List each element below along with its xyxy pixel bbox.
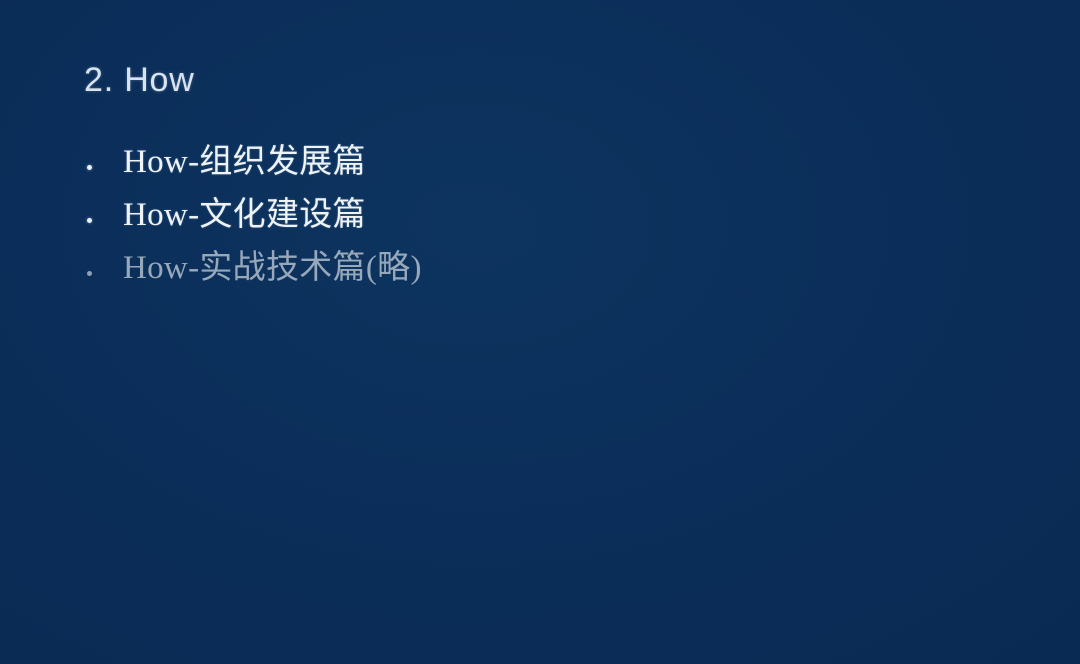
bullet-dot-icon xyxy=(84,171,123,172)
bullet-item-label: How-组织发展篇 xyxy=(123,136,366,189)
bullet-item-culture-building[interactable]: How-文化建设篇 xyxy=(84,189,964,242)
bullet-item-label: How-实战技术篇(略) xyxy=(123,242,422,295)
bullet-dot-icon xyxy=(84,224,123,225)
bullet-item-organization-development[interactable]: How-组织发展篇 xyxy=(84,136,964,189)
slide-canvas: 2. How How-组织发展篇 How-文化建设篇 How-实战技术篇(略) xyxy=(0,0,1080,664)
slide-title: 2. How xyxy=(84,58,195,102)
bullet-item-label: How-文化建设篇 xyxy=(123,189,366,242)
bullet-dot-icon xyxy=(84,277,123,278)
bullet-item-practical-techniques-omitted[interactable]: How-实战技术篇(略) xyxy=(84,242,964,295)
agenda-bullet-list: How-组织发展篇 How-文化建设篇 How-实战技术篇(略) xyxy=(84,136,964,295)
